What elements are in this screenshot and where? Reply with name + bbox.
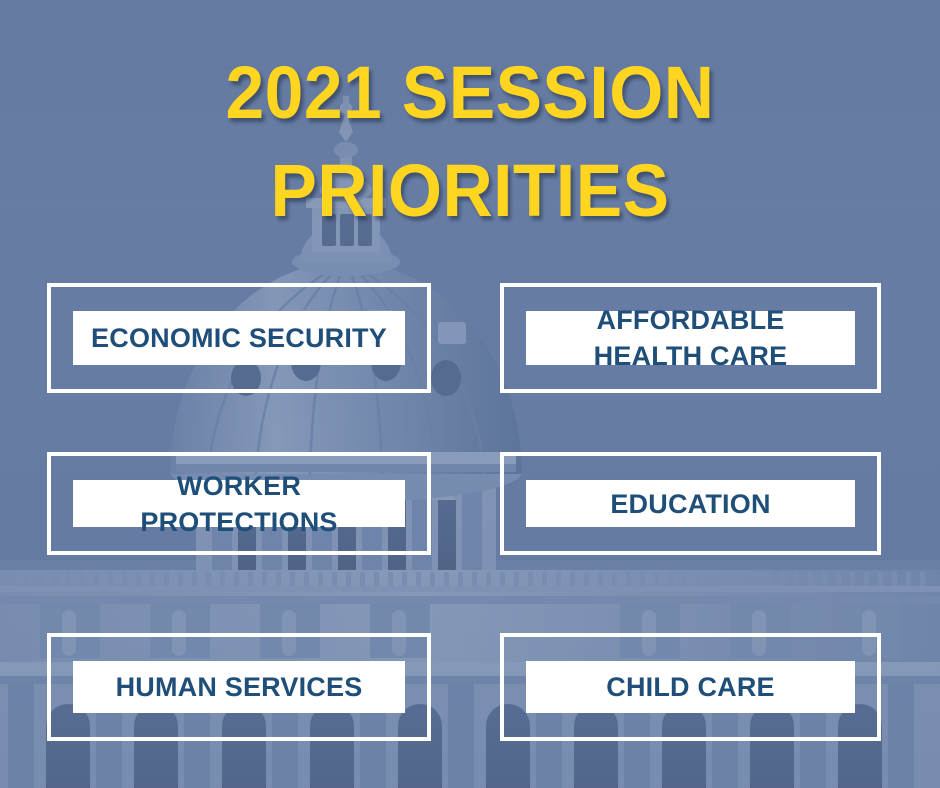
priority-box-human-services: HUMAN SERVICES bbox=[47, 633, 431, 741]
priority-box-affordable-health-care: AFFORDABLE HEALTH CARE bbox=[500, 283, 881, 393]
priority-label-child-care: CHILD CARE bbox=[606, 669, 775, 705]
priority-box-inner: AFFORDABLE HEALTH CARE bbox=[526, 311, 855, 365]
priority-label-human-services: HUMAN SERVICES bbox=[116, 669, 363, 705]
priority-box-child-care: CHILD CARE bbox=[500, 633, 881, 741]
priority-label-affordable-health-care: AFFORDABLE HEALTH CARE bbox=[594, 302, 788, 374]
session-priorities-poster: 2021 SESSION PRIORITIES ECONOMIC SECURIT… bbox=[0, 0, 940, 788]
priority-box-economic-security: ECONOMIC SECURITY bbox=[47, 283, 431, 393]
priority-box-inner: EDUCATION bbox=[526, 480, 855, 527]
priority-label-education: EDUCATION bbox=[610, 486, 770, 522]
priority-label-worker-protections: WORKER PROTECTIONS bbox=[83, 468, 395, 540]
priority-box-inner: WORKER PROTECTIONS bbox=[73, 480, 405, 527]
priority-box-worker-protections: WORKER PROTECTIONS bbox=[47, 452, 431, 555]
priority-box-education: EDUCATION bbox=[500, 452, 881, 555]
priority-label-economic-security: ECONOMIC SECURITY bbox=[91, 320, 387, 356]
priority-box-inner: HUMAN SERVICES bbox=[73, 661, 405, 713]
priority-box-grid: ECONOMIC SECURITY AFFORDABLE HEALTH CARE… bbox=[0, 0, 940, 788]
priority-box-inner: CHILD CARE bbox=[526, 661, 855, 713]
priority-box-inner: ECONOMIC SECURITY bbox=[73, 311, 405, 365]
